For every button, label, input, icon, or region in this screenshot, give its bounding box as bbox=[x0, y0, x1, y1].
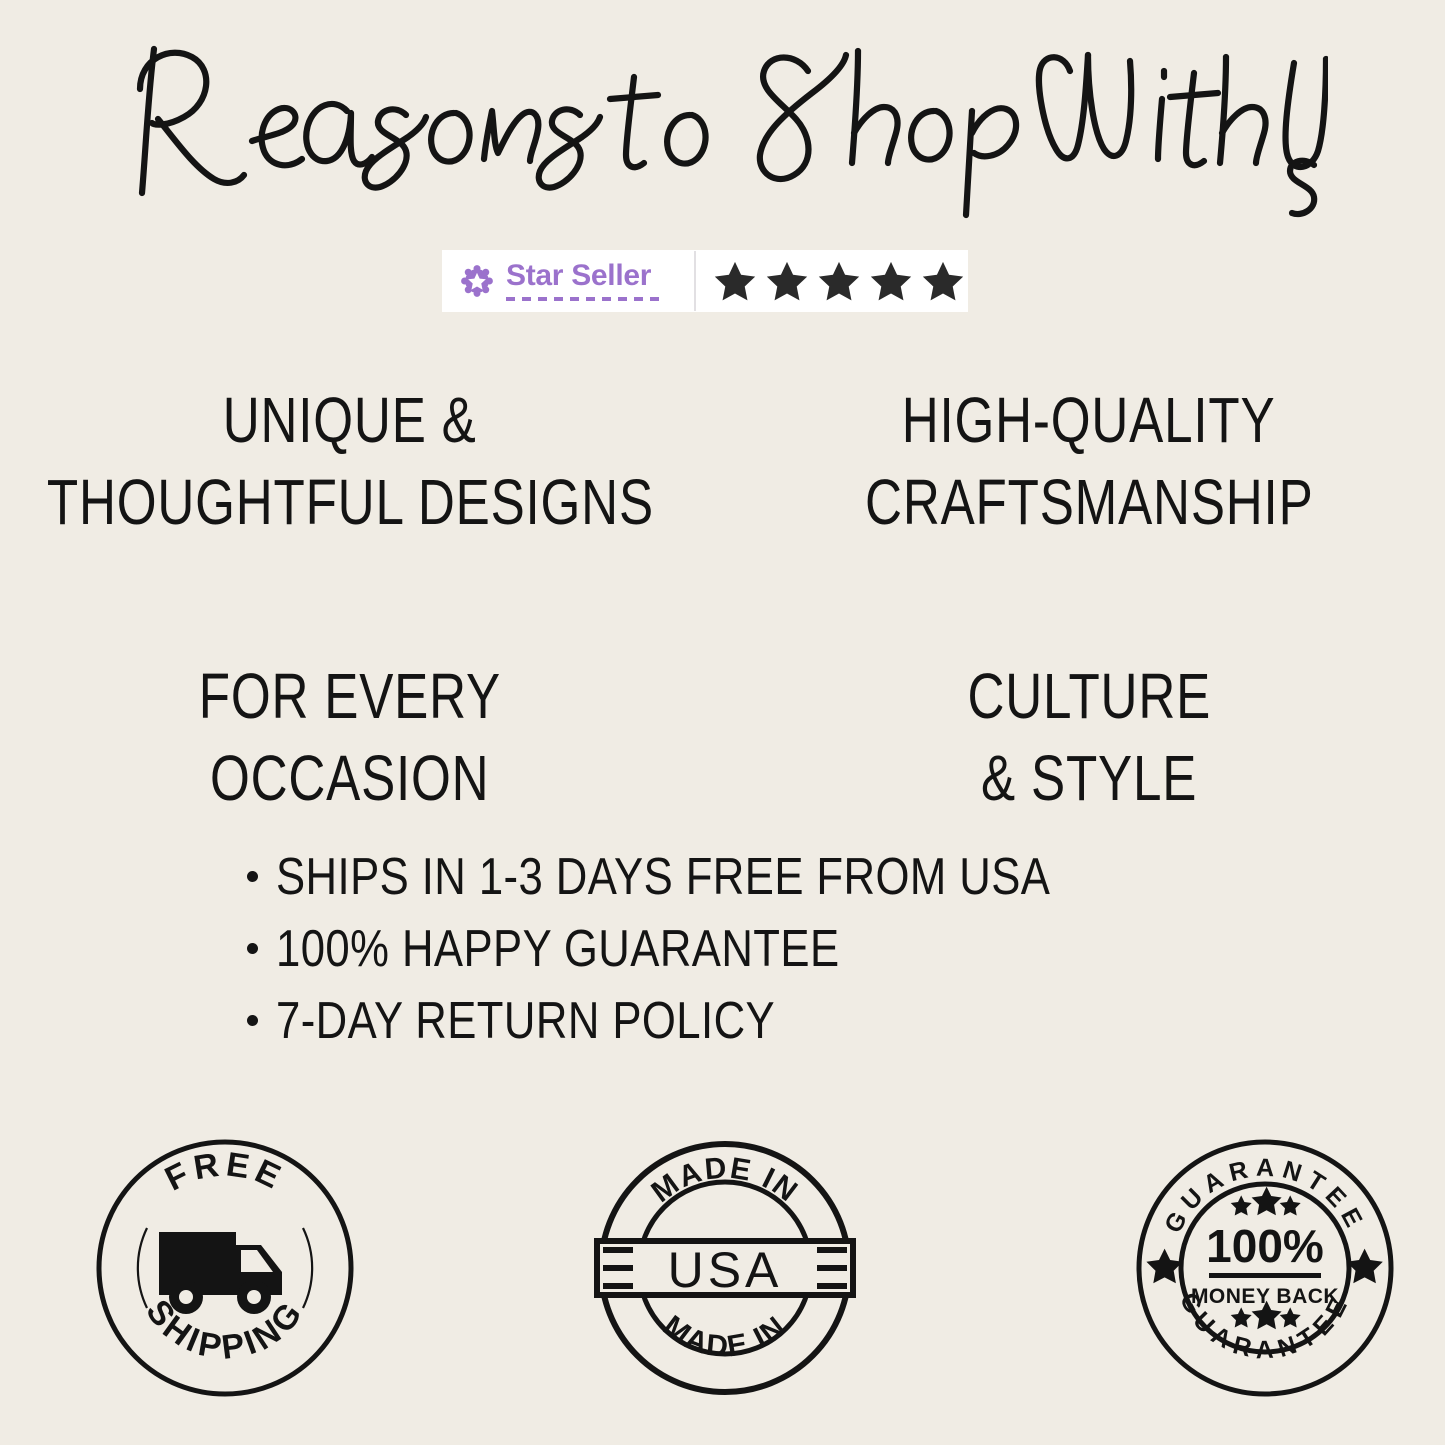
policy-bullet-list-inner: SHIPS IN 1-3 DAYS FREE FROM USA 100% HAP… bbox=[247, 848, 1198, 1065]
usa-ribbon: USA bbox=[597, 1241, 853, 1298]
feature-line: OCCASION bbox=[210, 738, 490, 820]
trust-badges-row: FREE SHIPPING bbox=[0, 1128, 1445, 1418]
page-title-script-art bbox=[118, 37, 1328, 222]
feature-line: THOUGHTFUL DESIGNS bbox=[46, 462, 653, 544]
star-seller-divider bbox=[694, 251, 696, 311]
features-row-1: UNIQUE & THOUGHTFUL DESIGNS HIGH-QUALITY… bbox=[0, 380, 1445, 544]
free-shipping-badge-art: FREE SHIPPING bbox=[89, 1132, 361, 1404]
feature-high-quality-craftsmanship: HIGH-QUALITY CRAFTSMANSHIP bbox=[722, 380, 1444, 544]
rating-star-icon bbox=[764, 259, 810, 303]
bullet-dot-icon bbox=[247, 1015, 258, 1026]
feature-line: UNIQUE & bbox=[223, 380, 477, 462]
guarantee-top-stars bbox=[1231, 1187, 1301, 1216]
feature-line: CULTURE bbox=[967, 656, 1211, 738]
star-seller-rosette-icon bbox=[460, 264, 494, 298]
guarantee-subtext: MONEY BACK bbox=[1191, 1285, 1339, 1308]
usa-ribbon-text: USA bbox=[668, 1242, 783, 1298]
rating-star-icon bbox=[868, 259, 914, 303]
bullet-dot-icon bbox=[247, 943, 258, 954]
list-item-label: 100% HAPPY GUARANTEE bbox=[276, 920, 840, 978]
star-seller-label: Star Seller bbox=[506, 261, 664, 291]
rating-star-icon bbox=[816, 259, 862, 303]
free-shipping-bottom-text: SHIPPING bbox=[138, 1293, 312, 1367]
guarantee-percent: 100% bbox=[1206, 1220, 1324, 1272]
rating-star-icon bbox=[712, 259, 758, 303]
feature-line: HIGH-QUALITY bbox=[902, 380, 1276, 462]
feature-line: & STYLE bbox=[981, 738, 1197, 820]
feature-line: FOR EVERY bbox=[199, 656, 501, 738]
feature-for-every-occasion: FOR EVERY OCCASION bbox=[0, 656, 722, 820]
made-in-usa-badge-art: MADE IN MADE IN USA bbox=[589, 1132, 861, 1404]
star-seller-dashed-underline bbox=[506, 297, 664, 301]
page-title: Reasons to Shop With Us bbox=[0, 34, 1445, 224]
feature-culture-and-style: CULTURE & STYLE bbox=[722, 656, 1444, 820]
rating-star-icon bbox=[920, 259, 966, 303]
money-back-badge-art: GUARANTEE GUARANTEE bbox=[1129, 1132, 1401, 1404]
delivery-truck-icon bbox=[159, 1232, 282, 1314]
list-item: SHIPS IN 1-3 DAYS FREE FROM USA bbox=[247, 848, 1198, 906]
star-seller-badge: Star Seller bbox=[442, 250, 968, 312]
list-item-label: 7-DAY RETURN POLICY bbox=[276, 992, 775, 1050]
list-item-label: SHIPS IN 1-3 DAYS FREE FROM USA bbox=[276, 848, 1050, 906]
features-grid: UNIQUE & THOUGHTFUL DESIGNS HIGH-QUALITY… bbox=[0, 380, 1445, 820]
bullet-dot-icon bbox=[247, 871, 258, 882]
free-shipping-badge: FREE SHIPPING bbox=[89, 1132, 361, 1404]
star-seller-left: Star Seller bbox=[442, 250, 664, 312]
made-in-usa-badge: MADE IN MADE IN USA bbox=[589, 1132, 861, 1404]
made-in-bottom-text: MADE IN bbox=[657, 1309, 793, 1363]
listing-infographic: Reasons to Shop With Us bbox=[0, 0, 1445, 1445]
features-row-2: FOR EVERY OCCASION CULTURE & STYLE bbox=[0, 656, 1445, 820]
feature-line: CRAFTSMANSHIP bbox=[865, 462, 1313, 544]
star-seller-text-block: Star Seller bbox=[506, 261, 664, 301]
policy-bullet-list: SHIPS IN 1-3 DAYS FREE FROM USA 100% HAP… bbox=[0, 848, 1445, 1065]
list-item: 100% HAPPY GUARANTEE bbox=[247, 920, 947, 978]
feature-unique-thoughtful-designs: UNIQUE & THOUGHTFUL DESIGNS bbox=[0, 380, 722, 544]
guarantee-rule bbox=[1209, 1273, 1321, 1278]
money-back-guarantee-badge: GUARANTEE GUARANTEE bbox=[1129, 1132, 1401, 1404]
list-item: 7-DAY RETURN POLICY bbox=[247, 992, 870, 1050]
star-rating bbox=[702, 259, 966, 303]
